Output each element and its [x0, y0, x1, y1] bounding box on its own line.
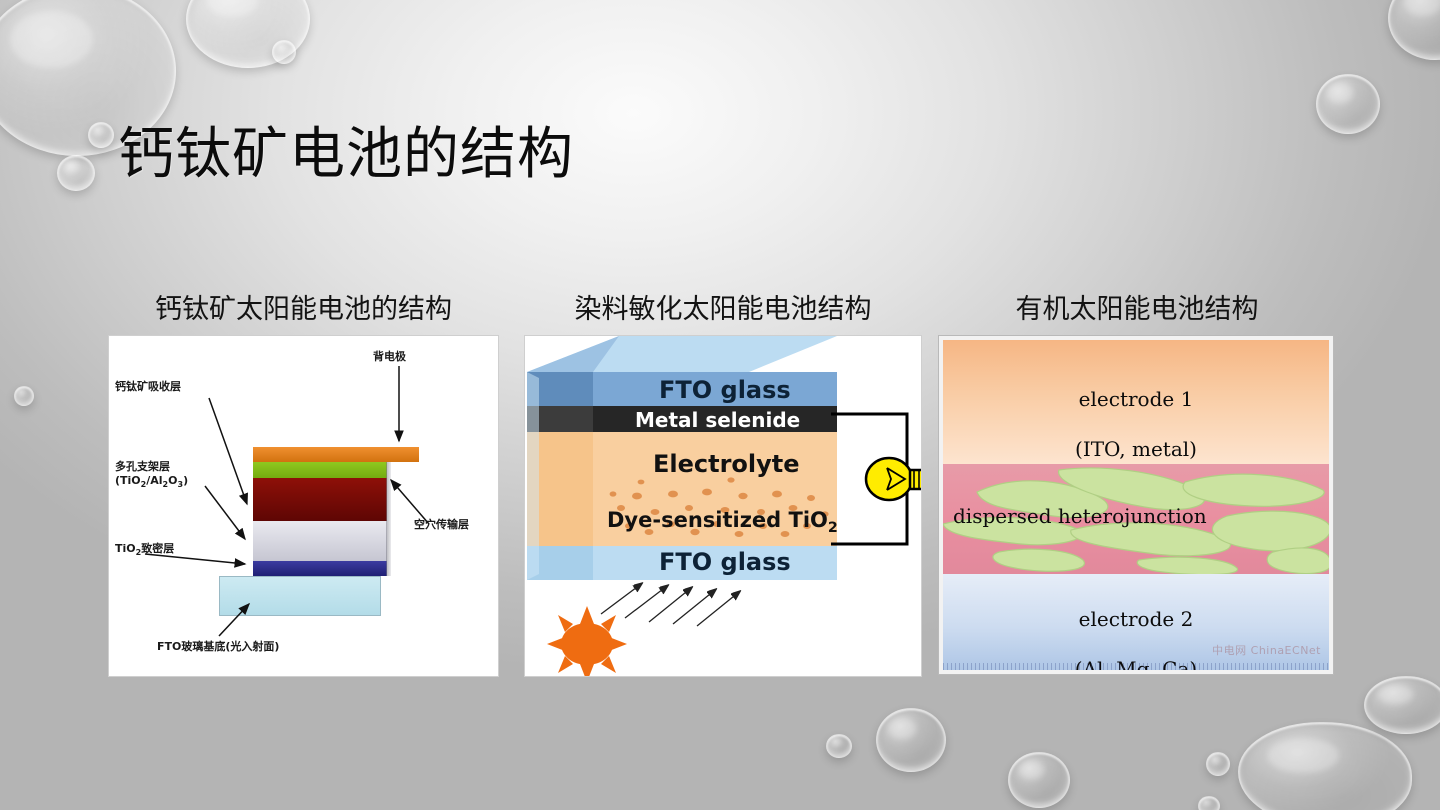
panel-organic: 有机太阳能电池结构	[938, 296, 1336, 675]
label-dispersed-heterojunction: dispersed heterojunction	[943, 504, 1207, 529]
figure-panels-row: 钙钛矿太阳能电池的结构	[0, 296, 1440, 696]
label-electrode-1: electrode 1 (ITO, metal)	[943, 362, 1329, 462]
layer-dispersed-heterojunction: dispersed heterojunction	[943, 464, 1329, 576]
label-fto-glass-bottom: FTO glass	[659, 548, 791, 576]
label-perovskite-absorber: 钙钛矿吸收层	[115, 380, 181, 394]
figure-organic-structure: dispersed heterojunction electrode 1 (IT…	[938, 335, 1334, 675]
bubble-tiny-bottom-b	[1198, 796, 1220, 810]
label-electrode-2-line1: electrode 2	[1079, 607, 1194, 631]
bubble-large-topright	[1388, 0, 1440, 60]
label-back-electrode: 背电极	[373, 350, 406, 364]
light-bulb-icon	[866, 458, 921, 500]
bubble-tiny-topleft	[272, 40, 296, 64]
label-electrolyte: Electrolyte	[653, 450, 800, 478]
bubble-medium-topright	[1316, 74, 1380, 134]
bubble-small-bottomleft	[826, 734, 852, 758]
sun-icon	[547, 606, 627, 676]
page-title: 钙钛矿电池的结构	[118, 124, 574, 187]
label-metal-selenide: Metal selenide	[635, 408, 800, 432]
label-hole-transport: 空穴传输层	[414, 518, 469, 532]
figure-dssc-structure: FTO glass Metal selenide Electrolyte Dye…	[524, 335, 922, 677]
bubble-small-topleft-a	[88, 122, 114, 148]
bubble-small-topleft-b	[57, 155, 95, 191]
label-scaffold-line1: 多孔支架层	[115, 460, 170, 473]
bubble-tiny-bottom-a	[1206, 752, 1230, 776]
panel-dssc: 染料敏化太阳能电池结构	[524, 296, 922, 677]
bubble-medium-bottom-b	[1008, 752, 1070, 808]
label-fto-substrate: FTO玻璃基底(光入射面)	[157, 640, 279, 654]
label-electrode-1-line2: (ITO, metal)	[1075, 437, 1197, 461]
label-porous-scaffold: 多孔支架层 (TiO2/Al2O3)	[115, 460, 188, 490]
light-ray-arrows	[601, 584, 739, 626]
bubble-medium-bottom-a	[876, 708, 946, 772]
panel-caption-organic: 有机太阳能电池结构	[938, 296, 1336, 323]
panel-caption-dssc: 染料敏化太阳能电池结构	[524, 296, 922, 323]
slide-canvas: 钙钛矿电池的结构 钙钛矿太阳能电池的结构	[0, 0, 1440, 810]
label-fto-glass-top: FTO glass	[659, 376, 791, 404]
label-electrode-1-line1: electrode 1	[1079, 387, 1194, 411]
panel-perovskite: 钙钛矿太阳能电池的结构	[108, 296, 499, 677]
panel-caption-perovskite: 钙钛矿太阳能电池的结构	[108, 296, 499, 323]
label-compact-tio2: TiO2致密层	[115, 542, 174, 558]
figure-perovskite-structure: 钙钛矿吸收层 多孔支架层 (TiO2/Al2O3) TiO2致密层 背电极 空穴…	[108, 335, 499, 677]
watermark-text: 中电网 ChinaECNet	[1212, 642, 1321, 658]
bottom-ruler-strip	[943, 663, 1329, 670]
label-dye-sensitized-tio2: Dye-sensitized TiO2	[607, 508, 838, 536]
bubble-large-bottomright	[1238, 722, 1412, 810]
